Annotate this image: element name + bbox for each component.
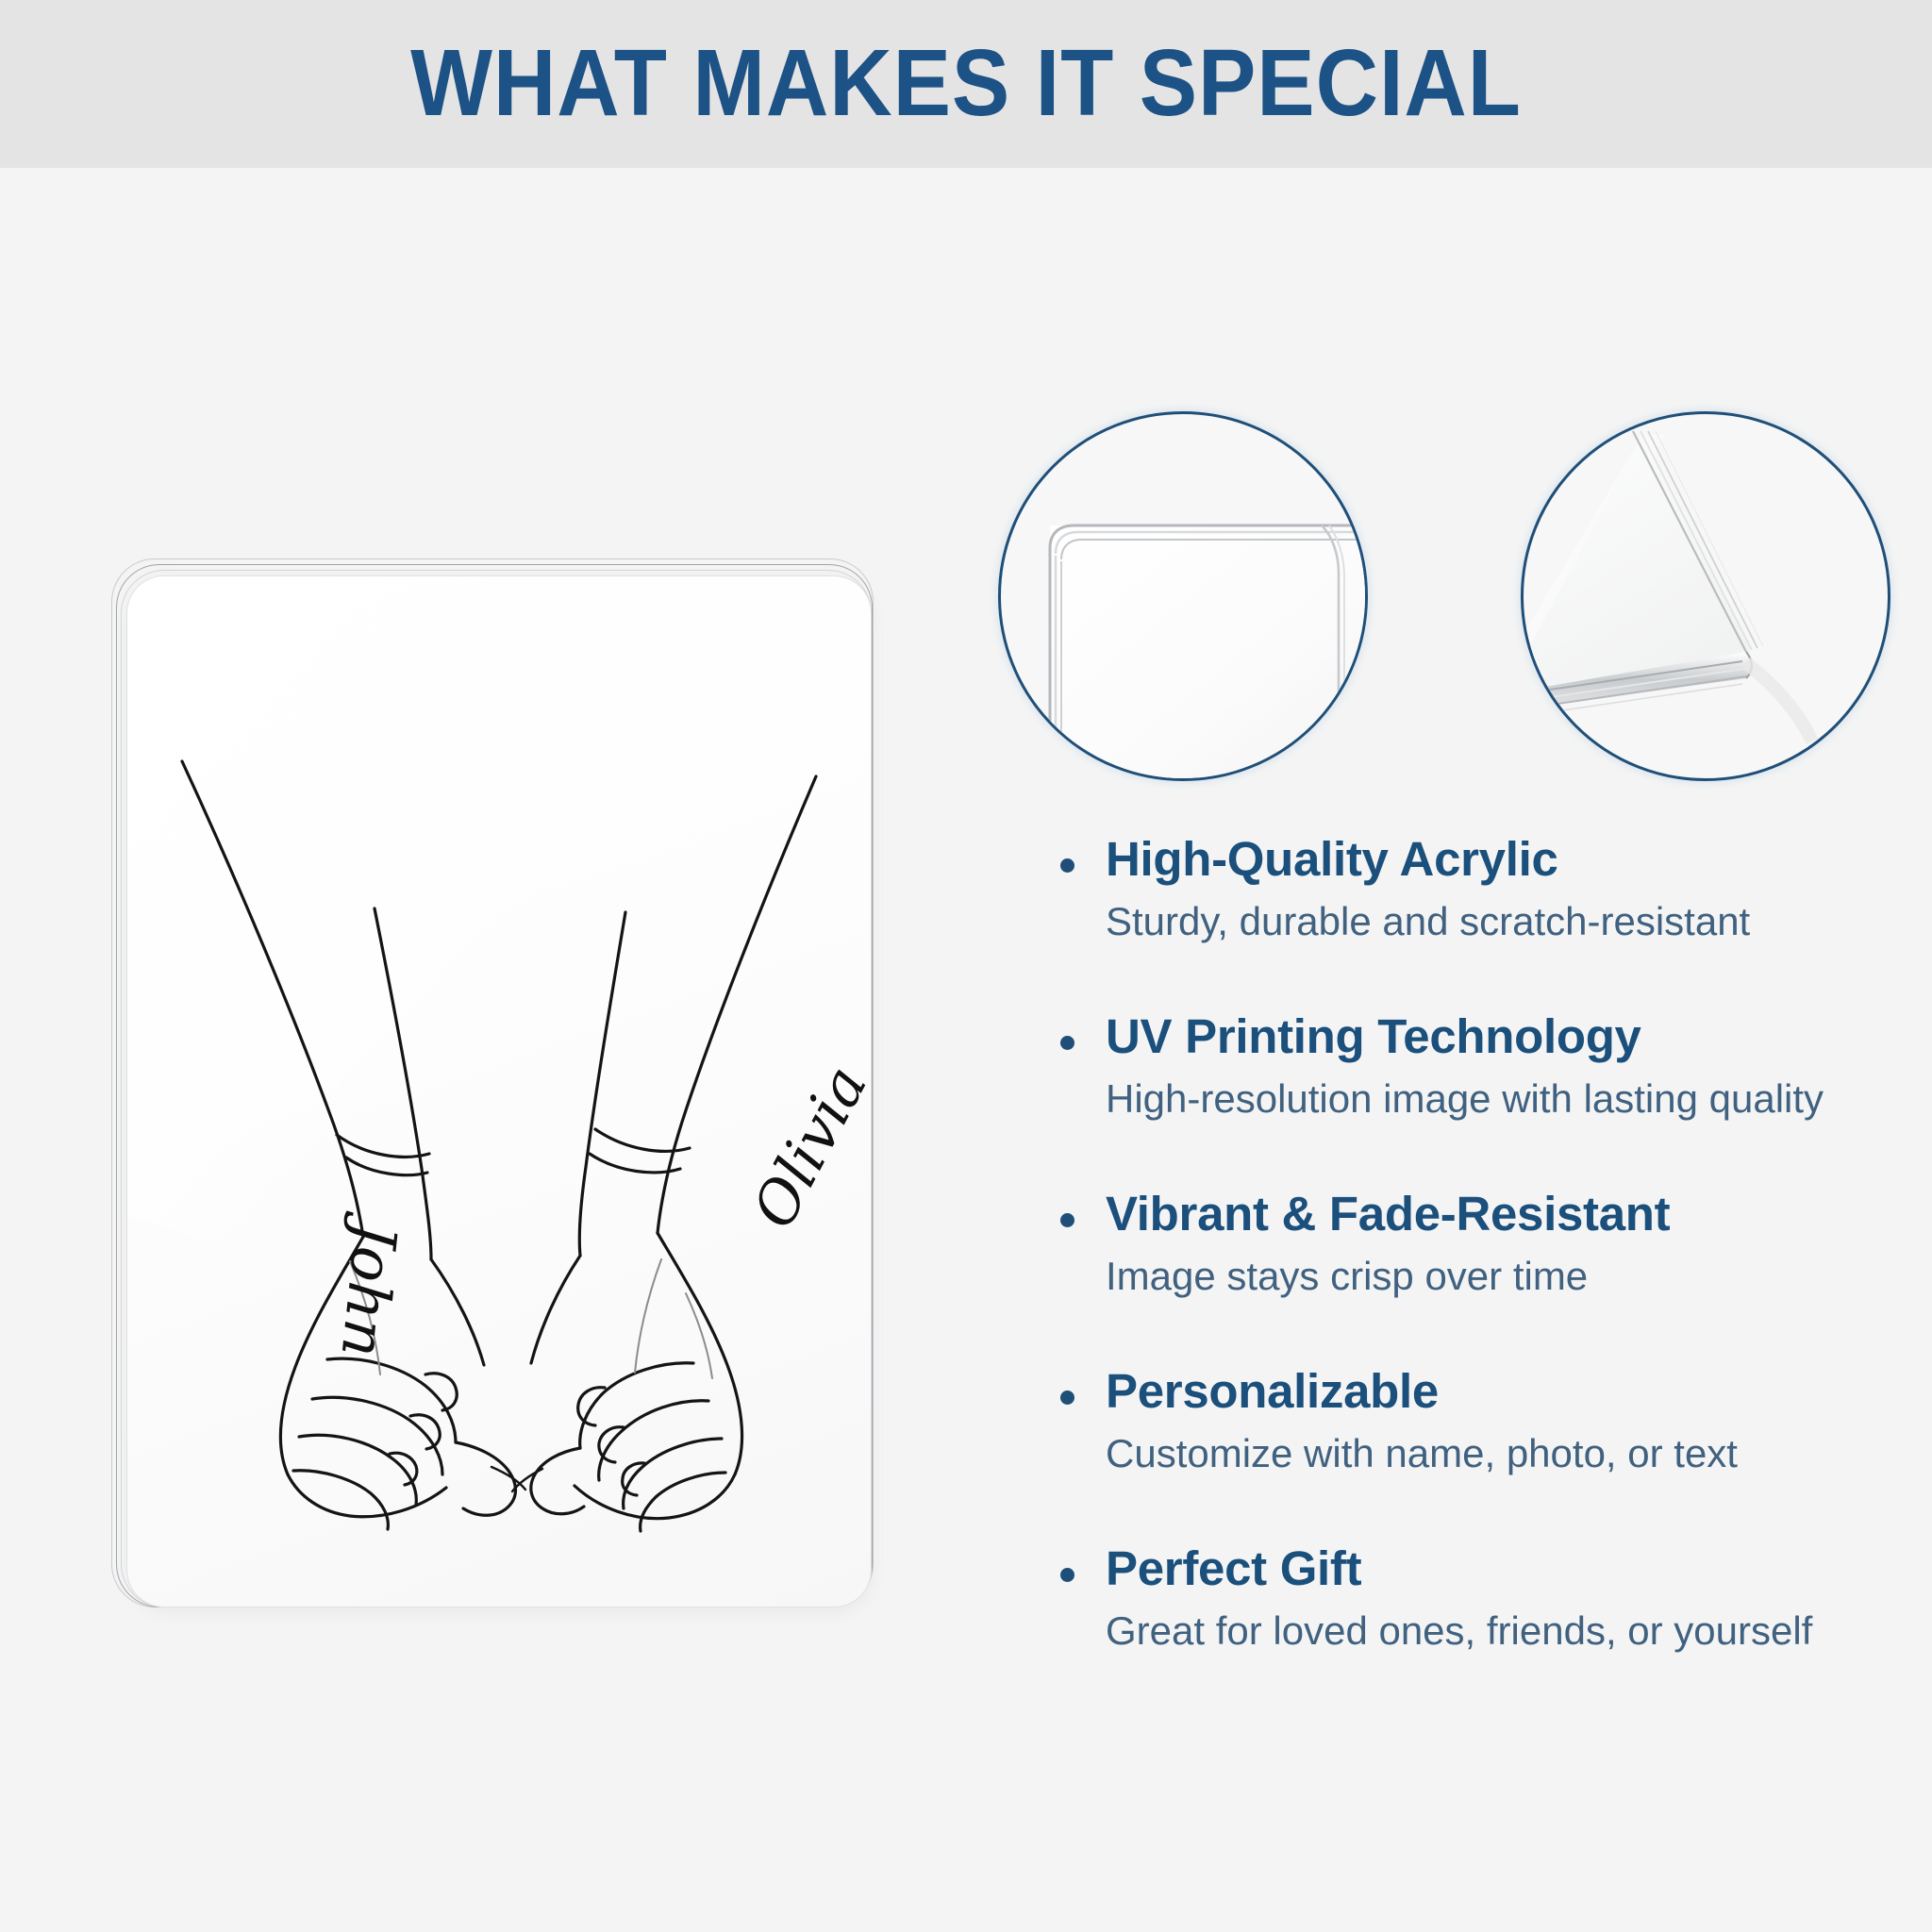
feature-title: Personalizable xyxy=(1106,1362,1896,1421)
detail-shot-edge-thickness xyxy=(1521,411,1890,781)
feature-description: Sturdy, durable and scratch-resistant xyxy=(1106,894,1896,949)
feature-title: UV Printing Technology xyxy=(1106,1008,1896,1066)
feature-description: Image stays crisp over time xyxy=(1106,1249,1896,1304)
personalized-name-left: John xyxy=(328,1220,410,1360)
feature-item-high-quality-acrylic: High-Quality Acrylic Sturdy, durable and… xyxy=(1047,830,1896,949)
feature-description: High-resolution image with lasting quali… xyxy=(1106,1072,1896,1126)
product-plaque: John Olivia Together From our first kiss… xyxy=(111,558,894,1634)
feature-list: High-Quality Acrylic Sturdy, durable and… xyxy=(1047,830,1896,1658)
feature-item-vibrant-fade-resistant: Vibrant & Fade-Resistant Image stays cri… xyxy=(1047,1185,1896,1304)
feature-title: High-Quality Acrylic xyxy=(1106,830,1896,889)
edge-thickness-illustration xyxy=(1524,414,1888,778)
bullet-dot-icon xyxy=(1060,858,1074,873)
plaque-face: John Olivia Together From our first kiss… xyxy=(126,575,872,1607)
feature-description: Customize with name, photo, or text xyxy=(1106,1426,1896,1481)
bullet-dot-icon xyxy=(1060,1213,1074,1227)
bullet-dot-icon xyxy=(1060,1391,1074,1405)
bullet-dot-icon xyxy=(1060,1036,1074,1050)
bullet-dot-icon xyxy=(1060,1568,1074,1582)
detail-shot-rounded-corner xyxy=(998,411,1368,781)
feature-item-perfect-gift: Perfect Gift Great for loved ones, frien… xyxy=(1047,1540,1896,1658)
feature-description: Great for loved ones, friends, or yourse… xyxy=(1106,1604,1896,1658)
feature-title: Vibrant & Fade-Resistant xyxy=(1106,1185,1896,1243)
feature-item-uv-printing-technology: UV Printing Technology High-resolution i… xyxy=(1047,1008,1896,1126)
holding-hands-line-art xyxy=(127,576,871,1607)
feature-item-personalizable: Personalizable Customize with name, phot… xyxy=(1047,1362,1896,1481)
rounded-corner-illustration xyxy=(1001,414,1365,778)
feature-title: Perfect Gift xyxy=(1106,1540,1896,1598)
page-title: WHAT MAKES IT SPECIAL xyxy=(77,26,1855,140)
